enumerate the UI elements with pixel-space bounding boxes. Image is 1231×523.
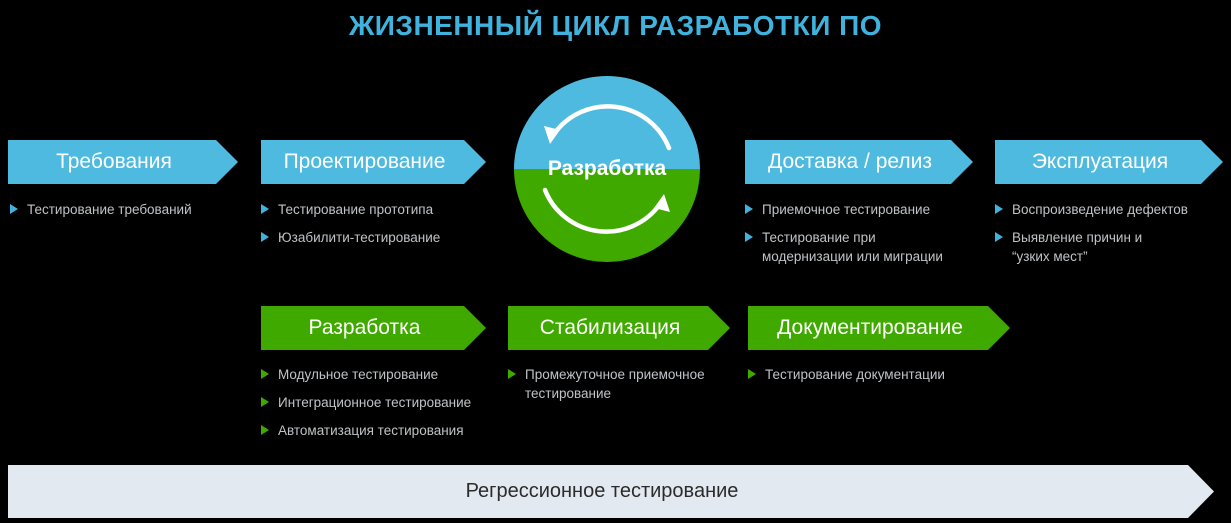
bullet-list-proektirovanie: Тестирование прототипа Юзабилити-тестиро… — [261, 200, 501, 256]
stage-chip-dokumentirovanie[interactable]: Документирование — [748, 306, 1010, 350]
stage-chip-label: Требования — [8, 140, 238, 184]
list-item: Тестирование требований — [10, 200, 250, 219]
bullet-text: Интеграционное тестирование — [278, 393, 471, 412]
list-item: Выявление причин и “узких мест” — [995, 228, 1231, 266]
bullet-list-trebovaniya: Тестирование требований — [10, 200, 250, 228]
stage-chip-label: Документирование — [748, 306, 1010, 350]
triangle-bullet-icon — [995, 204, 1003, 214]
bullet-text: Тестирование требований — [27, 200, 192, 219]
development-cycle-circle: Разработка — [514, 76, 700, 262]
list-item: Промежуточное приемочное тестирование — [508, 365, 748, 403]
list-item: Автоматизация тестирования — [261, 421, 506, 440]
triangle-bullet-icon — [261, 397, 269, 407]
bullet-list-dokumentirovanie: Тестирование документации — [748, 365, 1008, 393]
list-item: Модульное тестирование — [261, 365, 506, 384]
regression-testing-bar[interactable]: Регрессионное тестирование — [8, 465, 1214, 518]
bullet-text: Юзабилити-тестирование — [278, 228, 440, 247]
list-item: Приемочное тестирование — [745, 200, 990, 219]
list-item: Воспроизведение дефектов — [995, 200, 1231, 219]
bullet-text: Модульное тестирование — [278, 365, 438, 384]
bullet-list-ekspluataciya: Воспроизведение дефектов Выявление причи… — [995, 200, 1231, 275]
triangle-bullet-icon — [261, 204, 269, 214]
stage-chip-trebovaniya[interactable]: Требования — [8, 140, 238, 184]
triangle-bullet-icon — [261, 232, 269, 242]
triangle-bullet-icon — [10, 204, 18, 214]
stage-chip-stabilizaciya[interactable]: Стабилизация — [508, 306, 730, 350]
list-item: Тестирование документации — [748, 365, 1008, 384]
bullet-text: Промежуточное приемочное тестирование — [525, 365, 705, 403]
triangle-bullet-icon — [261, 425, 269, 435]
page-title: ЖИЗНЕННЫЙ ЦИКЛ РАЗРАБОТКИ ПО — [0, 10, 1231, 42]
triangle-bullet-icon — [995, 232, 1003, 242]
list-item: Интеграционное тестирование — [261, 393, 506, 412]
stage-chip-label: Доставка / релиз — [745, 140, 973, 184]
diagram-canvas: ЖИЗНЕННЫЙ ЦИКЛ РАЗРАБОТКИ ПО Требования … — [0, 0, 1231, 523]
bullet-text: Тестирование при модернизации или миграц… — [762, 228, 943, 266]
triangle-bullet-icon — [508, 369, 516, 379]
list-item: Тестирование при модернизации или миграц… — [745, 228, 990, 266]
triangle-bullet-icon — [745, 204, 753, 214]
stage-chip-label: Проектирование — [261, 140, 486, 184]
circle-label: Разработка — [514, 76, 700, 262]
triangle-bullet-icon — [748, 369, 756, 379]
triangle-bullet-icon — [261, 369, 269, 379]
bullet-text: Выявление причин и “узких мест” — [1012, 228, 1142, 266]
bullet-text: Приемочное тестирование — [762, 200, 930, 219]
bullet-text: Воспроизведение дефектов — [1012, 200, 1188, 219]
bullet-list-razrabotka: Модульное тестирование Интеграционное те… — [261, 365, 506, 449]
stage-chip-proektirovanie[interactable]: Проектирование — [261, 140, 486, 184]
stage-chip-label: Эксплуатация — [995, 140, 1223, 184]
stage-chip-dostavka-reliz[interactable]: Доставка / релиз — [745, 140, 973, 184]
bullet-list-stabilizaciya: Промежуточное приемочное тестирование — [508, 365, 748, 412]
stage-chip-razrabotka[interactable]: Разработка — [261, 306, 486, 350]
triangle-bullet-icon — [745, 232, 753, 242]
bullet-text: Тестирование прототипа — [278, 200, 433, 219]
list-item: Тестирование прототипа — [261, 200, 501, 219]
stage-chip-ekspluataciya[interactable]: Эксплуатация — [995, 140, 1223, 184]
bullet-text: Тестирование документации — [765, 365, 945, 384]
bullet-text: Автоматизация тестирования — [278, 421, 464, 440]
regression-label: Регрессионное тестирование — [8, 465, 1214, 518]
stage-chip-label: Разработка — [261, 306, 486, 350]
bullet-list-dostavka-reliz: Приемочное тестирование Тестирование при… — [745, 200, 990, 275]
stage-chip-label: Стабилизация — [508, 306, 730, 350]
list-item: Юзабилити-тестирование — [261, 228, 501, 247]
